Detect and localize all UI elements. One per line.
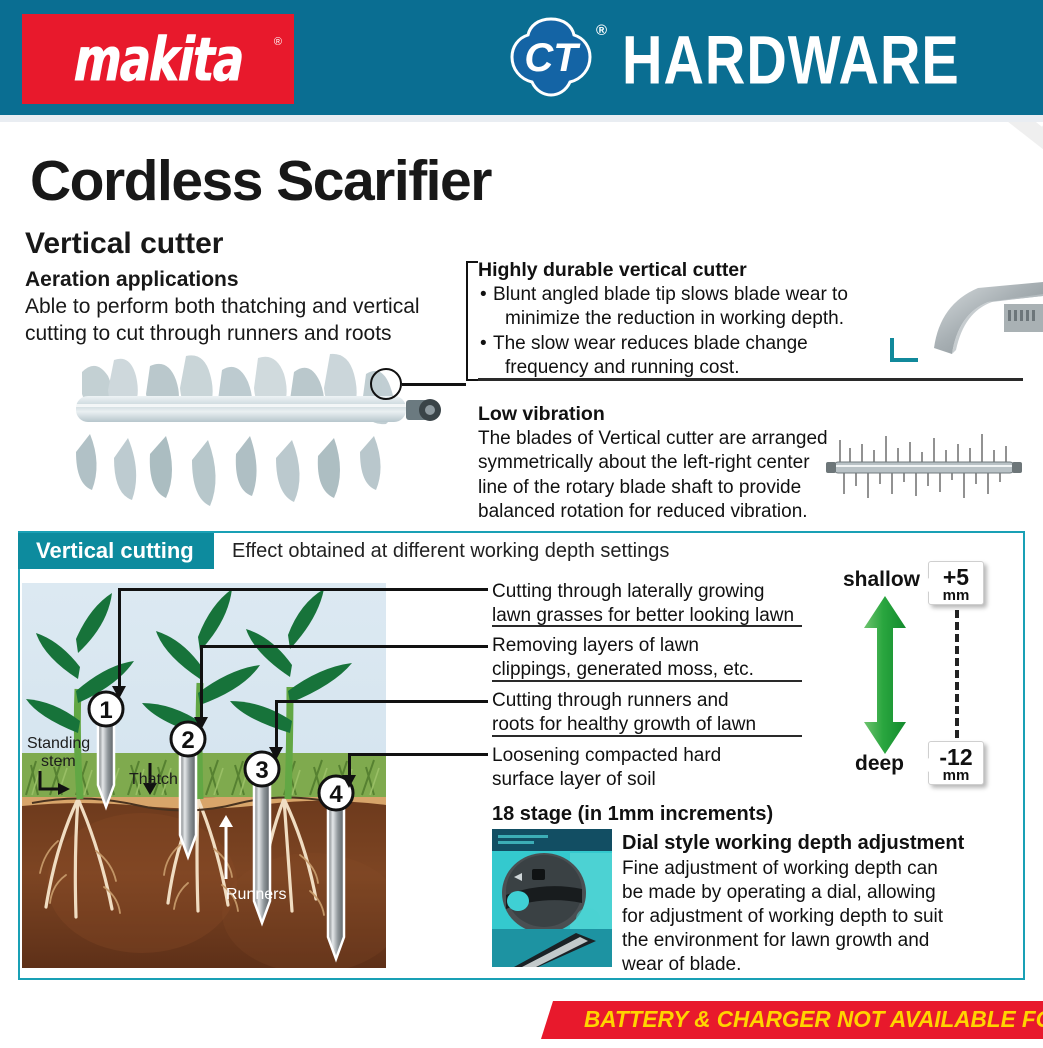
vertical-cutting-tab-label: Vertical cutting xyxy=(18,538,194,564)
label-standing-stem-line1: Standing xyxy=(27,735,90,752)
stage-1-line1: Cutting through laterally growing xyxy=(492,581,765,602)
depth-max-tag-notch-icon xyxy=(920,578,929,592)
stage-divider-3 xyxy=(492,735,802,737)
label-thatch: Thatch xyxy=(129,771,178,789)
vertical-cutting-tab: Vertical cutting xyxy=(18,533,214,569)
label-standing-stem: Standing stem xyxy=(27,735,90,772)
label-runners: Runners xyxy=(226,886,286,904)
durable-feature-bracket xyxy=(466,261,478,381)
depth-max-value: +5 xyxy=(929,566,983,589)
bullet-line: The slow wear reduces blade change xyxy=(493,333,808,354)
leader-arrow-4 xyxy=(342,775,356,788)
bottom-banner-text: BATTERY & CHARGER NOT AVAILABLE FOR Z MO… xyxy=(584,1006,1043,1033)
depth-shallow-label: shallow xyxy=(843,568,920,592)
bullet-line: minimize the reduction in working depth. xyxy=(493,307,900,331)
bullet-dot-icon: • xyxy=(480,283,493,331)
stage-3-line2: roots for healthy growth of lawn xyxy=(492,714,756,735)
vertical-cutting-subtitle: Effect obtained at different working dep… xyxy=(232,540,669,563)
header-divider xyxy=(0,115,1043,122)
leader-line-4-horizontal xyxy=(348,753,488,756)
dial-feature-title: Dial style working depth adjustment xyxy=(622,832,964,855)
stage-divider-1 xyxy=(492,625,802,627)
svg-text:2: 2 xyxy=(181,727,194,754)
stage-2-line1: Removing layers of lawn xyxy=(492,635,699,656)
page-subtitle: Vertical cutter xyxy=(25,227,223,261)
stage-2-line2: clippings, generated moss, etc. xyxy=(492,659,754,680)
page-header: makita ® CT ® HARDWARE xyxy=(0,0,1043,115)
stage-description-2: Removing layers of lawn clippings, gener… xyxy=(492,634,812,682)
depth-range-arrow-icon xyxy=(862,596,908,759)
ct-registered-icon: ® xyxy=(596,22,607,39)
leader-line-1-horizontal xyxy=(118,588,488,591)
aeration-body: Able to perform both thatching and verti… xyxy=(25,294,465,347)
stage-count-label: 18 stage (in 1mm increments) xyxy=(492,803,773,826)
symmetric-blade-shaft-illustration xyxy=(824,424,1024,502)
callout-leader-horizontal xyxy=(402,383,466,386)
dial-feature-body: Fine adjustment of working depth can be … xyxy=(622,857,962,977)
leader-line-1-vertical xyxy=(118,588,121,686)
feature-divider-rule xyxy=(478,378,1023,381)
ct-logo-icon: CT xyxy=(510,17,592,97)
label-standing-stem-line2: stem xyxy=(27,753,76,771)
durable-feature-bullets: • Blunt angled blade tip slows blade wea… xyxy=(480,283,900,381)
store-name: HARDWARE xyxy=(622,20,960,99)
makita-brand-text: makita xyxy=(72,23,243,95)
bullet-item: • Blunt angled blade tip slows blade wea… xyxy=(480,283,900,331)
leader-line-2-vertical xyxy=(200,645,203,717)
stage-description-3: Cutting through runners and roots for he… xyxy=(492,689,812,737)
vibration-feature-body: The blades of Vertical cutter are arrang… xyxy=(478,427,838,524)
svg-text:3: 3 xyxy=(255,757,268,784)
leader-line-2-horizontal xyxy=(200,645,488,648)
rotary-blade-shaft-illustration xyxy=(62,352,462,517)
depth-dial-photo xyxy=(492,829,612,967)
bullet-line: frequency and running cost. xyxy=(493,356,900,380)
depth-min-value: -12 xyxy=(929,746,983,769)
vibration-feature-title: Low vibration xyxy=(478,403,605,426)
stage-3-line1: Cutting through runners and xyxy=(492,690,729,711)
depth-min-tag: -12 mm xyxy=(928,741,984,785)
makita-wordmark: makita xyxy=(22,14,294,104)
makita-registered-icon: ® xyxy=(274,36,282,48)
blade-tip-photo xyxy=(918,278,1043,368)
leader-line-3-horizontal xyxy=(275,700,488,703)
banner-text-main: BATTERY & CHARGER NOT AVAILABLE FOR xyxy=(584,1006,1043,1032)
depth-increment-dotted-line xyxy=(955,610,959,738)
leader-arrow-1 xyxy=(112,686,126,699)
depth-max-tag: +5 mm xyxy=(928,561,984,605)
bullet-dot-icon: • xyxy=(480,332,493,380)
stage-divider-2 xyxy=(492,680,802,682)
blade-tip-angle-bracket-icon xyxy=(890,338,918,362)
svg-text:1: 1 xyxy=(99,697,112,724)
stage-description-4: Loosening compacted hard surface layer o… xyxy=(492,744,812,792)
leader-line-4-vertical xyxy=(348,753,351,775)
blade-tip-callout-circle xyxy=(370,368,402,400)
leader-arrow-3 xyxy=(269,747,283,760)
leader-arrow-2 xyxy=(194,717,208,730)
stage-description-1: Cutting through laterally growing lawn g… xyxy=(492,580,812,628)
aeration-heading: Aeration applications xyxy=(25,268,239,292)
stage-4-line1: Loosening compacted hard xyxy=(492,745,721,766)
makita-logo: makita ® xyxy=(22,14,294,104)
depth-max-unit: mm xyxy=(929,588,983,603)
bullet-item: • The slow wear reduces blade change fre… xyxy=(480,332,900,380)
bullet-line: Blunt angled blade tip slows blade wear … xyxy=(493,284,848,305)
depth-min-unit: mm xyxy=(929,768,983,783)
page-title: Cordless Scarifier xyxy=(30,148,491,214)
stage-4-line2: surface layer of soil xyxy=(492,769,656,790)
stage-1-line2: lawn grasses for better looking lawn xyxy=(492,605,794,626)
durable-feature-title: Highly durable vertical cutter xyxy=(478,259,747,282)
svg-text:CT: CT xyxy=(524,36,581,80)
leader-line-3-vertical xyxy=(275,700,278,747)
lawn-cross-section-diagram: 1 2 3 4 xyxy=(22,583,386,968)
depth-min-tag-notch-icon xyxy=(920,758,929,772)
